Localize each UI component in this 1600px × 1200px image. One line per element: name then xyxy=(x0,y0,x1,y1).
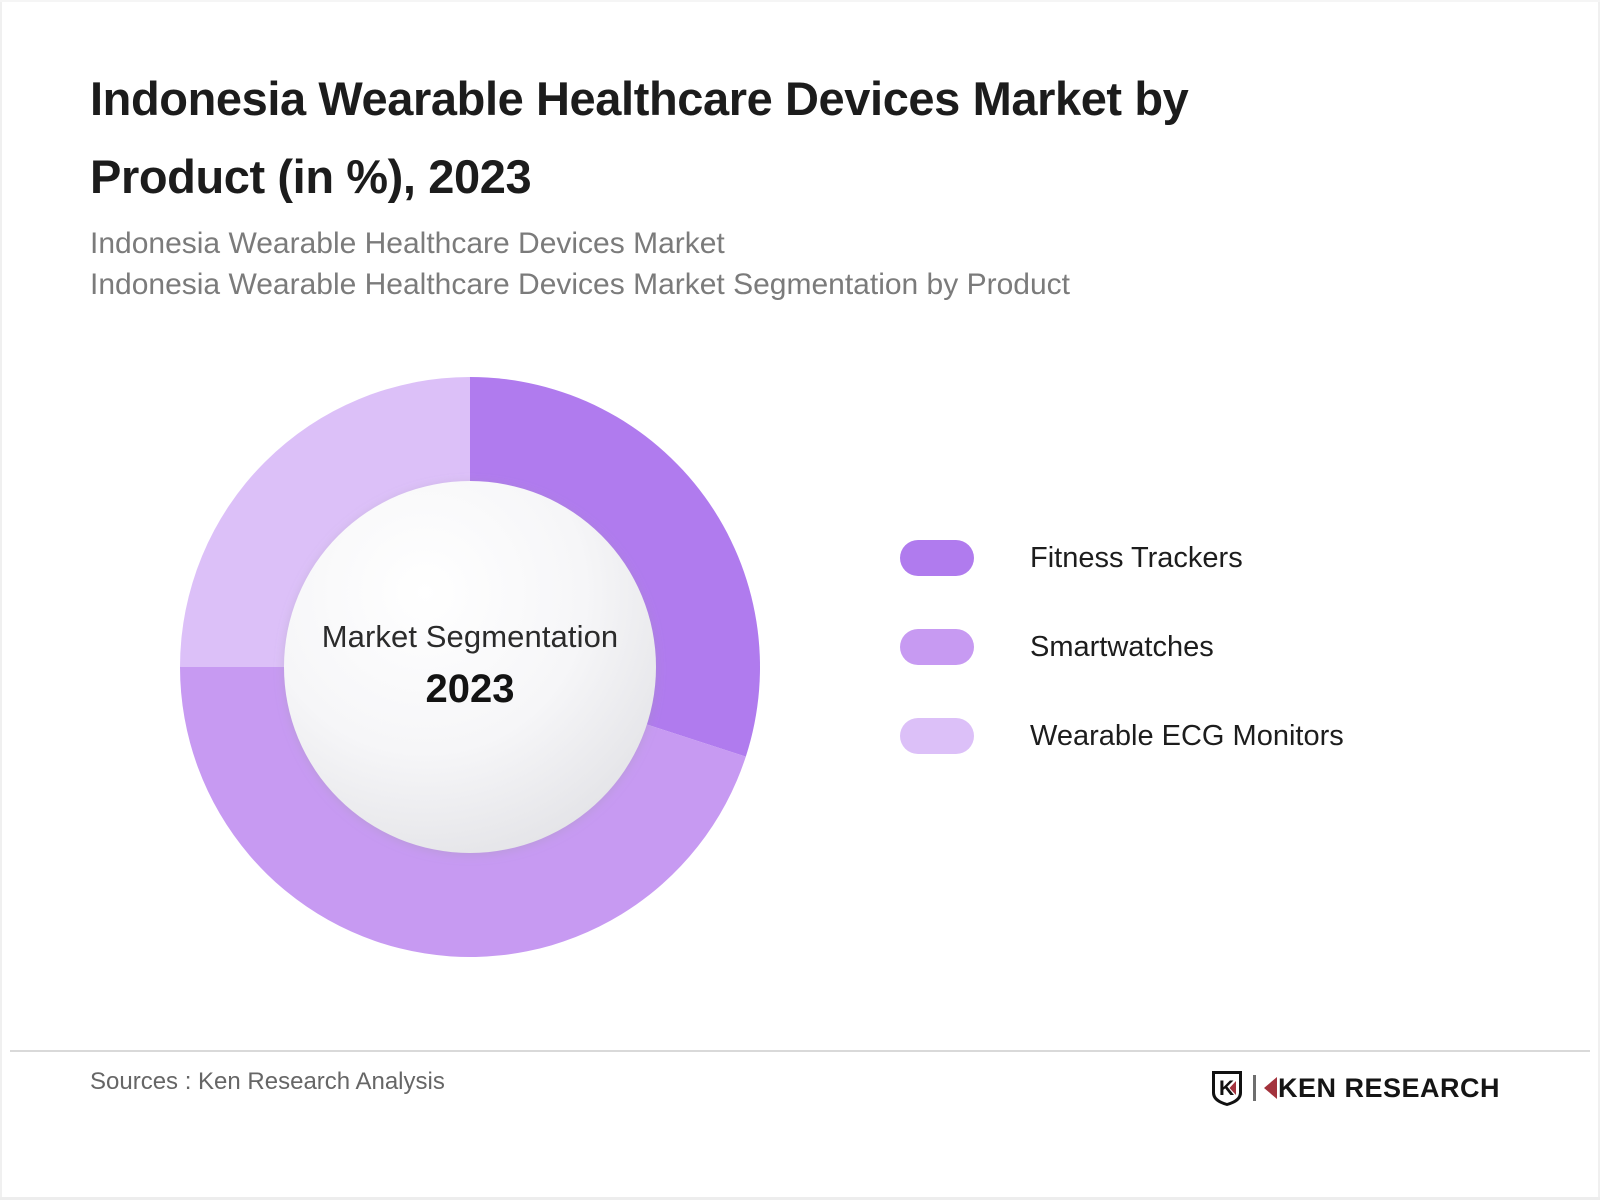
legend-item-label: Smartwatches xyxy=(1030,631,1214,664)
source-note: Sources : Ken Research Analysis xyxy=(90,1068,445,1096)
logo-divider xyxy=(1253,1075,1256,1101)
shield-logo-icon: K xyxy=(1210,1069,1244,1107)
donut-chart: Market Segmentation 2023 xyxy=(180,377,760,957)
chart-card: Indonesia Wearable Healthcare Devices Ma… xyxy=(0,0,1600,1200)
chart-legend: Fitness TrackersSmartwatchesWearable ECG… xyxy=(900,540,1344,754)
donut-chart-svg xyxy=(180,377,760,957)
legend-item[interactable]: Fitness Trackers xyxy=(900,540,1344,576)
legend-swatch-icon xyxy=(900,718,974,754)
legend-item[interactable]: Smartwatches xyxy=(900,629,1344,665)
chart-subtitle-secondary: Indonesia Wearable Healthcare Devices Ma… xyxy=(90,265,1420,306)
brand-triangle-icon xyxy=(1264,1077,1277,1099)
brand-name: KEN RESEARCH xyxy=(1264,1073,1500,1104)
donut-center-hub xyxy=(284,481,656,853)
chart-subtitle-primary: Indonesia Wearable Healthcare Devices Ma… xyxy=(90,224,1420,265)
plot-area: Market Segmentation 2023 Fitness Tracker… xyxy=(0,330,1600,1030)
ken-research-logo: K KEN RESEARCH xyxy=(1210,1068,1500,1108)
legend-swatch-icon xyxy=(900,540,974,576)
legend-item[interactable]: Wearable ECG Monitors xyxy=(900,718,1344,754)
card-border-top xyxy=(0,0,1600,2)
chart-header: Indonesia Wearable Healthcare Devices Ma… xyxy=(90,60,1420,305)
legend-item-label: Wearable ECG Monitors xyxy=(1030,720,1344,753)
brand-name-text: KEN RESEARCH xyxy=(1278,1073,1500,1104)
legend-item-label: Fitness Trackers xyxy=(1030,542,1243,575)
footer-divider xyxy=(10,1050,1590,1052)
page-title: Indonesia Wearable Healthcare Devices Ma… xyxy=(90,60,1320,216)
legend-swatch-icon xyxy=(900,629,974,665)
